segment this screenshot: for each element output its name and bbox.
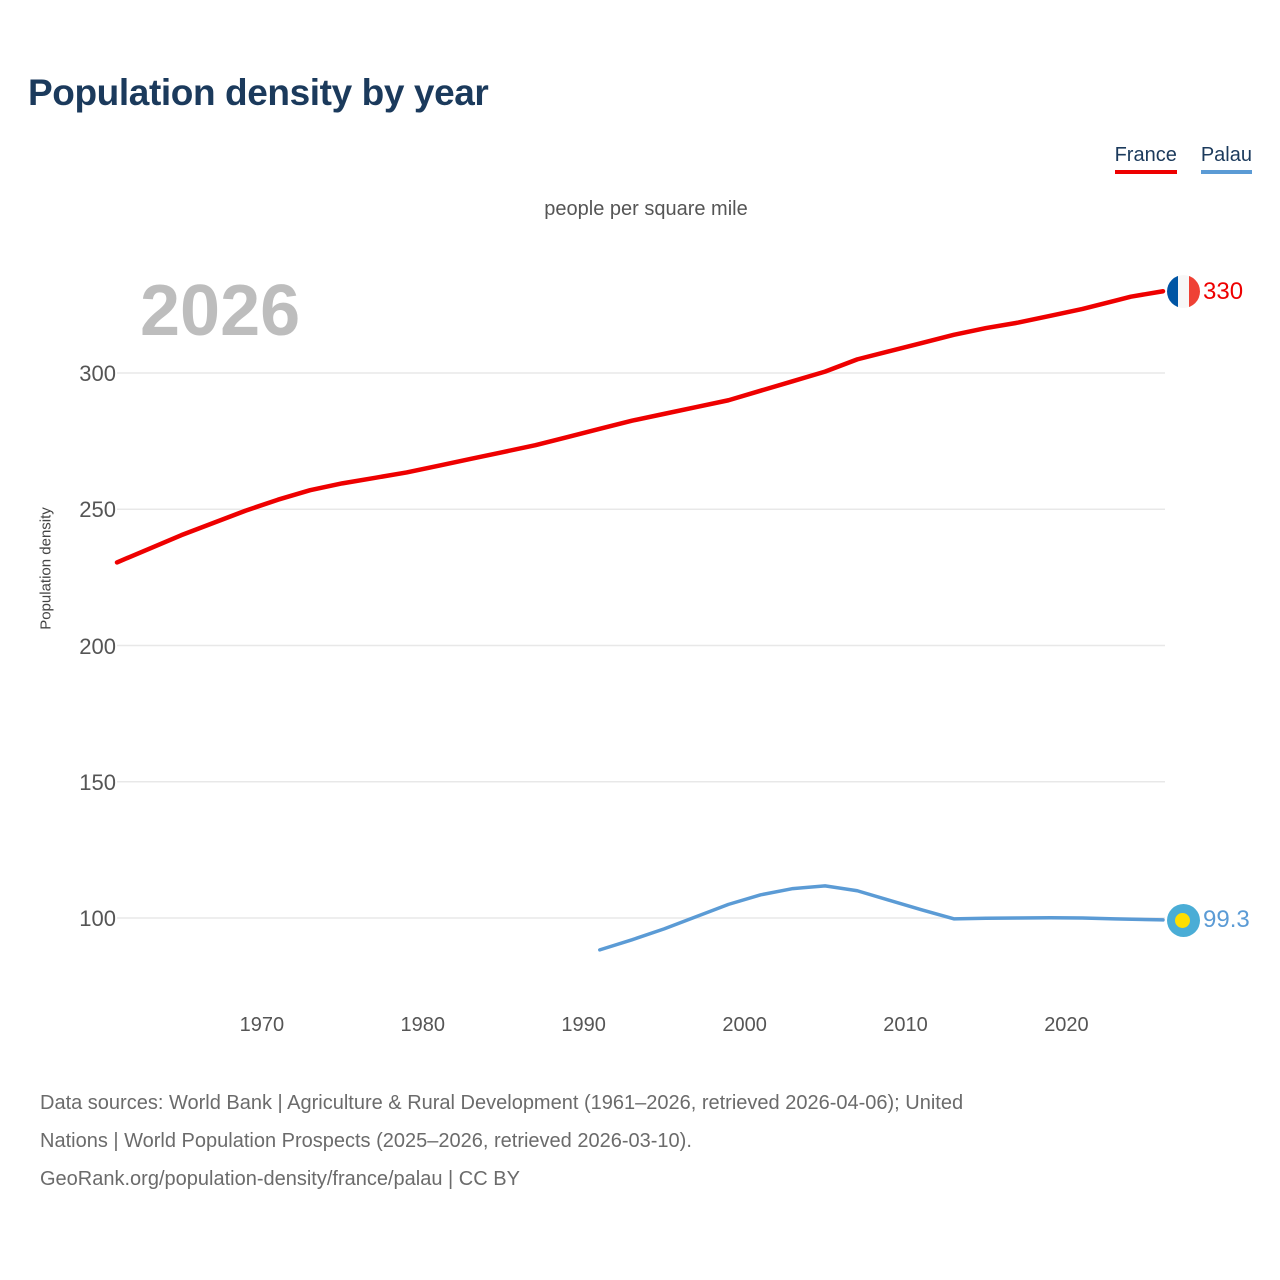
series-line-france — [117, 291, 1163, 562]
end-value-france: 330 — [1203, 278, 1243, 306]
footer-sources: Data sources: World Bank | Agriculture &… — [40, 1084, 1260, 1198]
y-tick-label: 300 — [26, 361, 116, 387]
footer-line-1: Data sources: World Bank | Agriculture &… — [40, 1084, 1260, 1122]
footer-line-3[interactable]: GeoRank.org/population-density/france/pa… — [40, 1160, 1260, 1198]
x-tick-label: 1980 — [363, 1014, 483, 1037]
x-tick-label: 1990 — [524, 1014, 644, 1037]
x-tick-label: 1970 — [202, 1014, 322, 1037]
chart-page: Population density by year France Palau … — [0, 0, 1280, 1280]
y-tick-label: 200 — [26, 634, 116, 660]
gridlines — [117, 373, 1165, 918]
x-tick-label: 2010 — [846, 1014, 966, 1037]
flag-palau-icon — [1167, 904, 1200, 937]
x-tick-label: 2000 — [685, 1014, 805, 1037]
y-tick-label: 100 — [26, 906, 116, 932]
end-marker-france: 330 — [1167, 275, 1243, 308]
series-lines — [117, 291, 1163, 950]
end-value-palau: 99.3 — [1203, 906, 1250, 934]
footer-line-2: Nations | World Population Prospects (20… — [40, 1122, 1260, 1160]
y-tick-label: 150 — [26, 770, 116, 796]
end-marker-palau: 99.3 — [1167, 904, 1250, 937]
x-tick-label: 2020 — [1006, 1014, 1126, 1037]
flag-france-icon — [1167, 275, 1200, 308]
y-tick-label: 250 — [26, 497, 116, 523]
